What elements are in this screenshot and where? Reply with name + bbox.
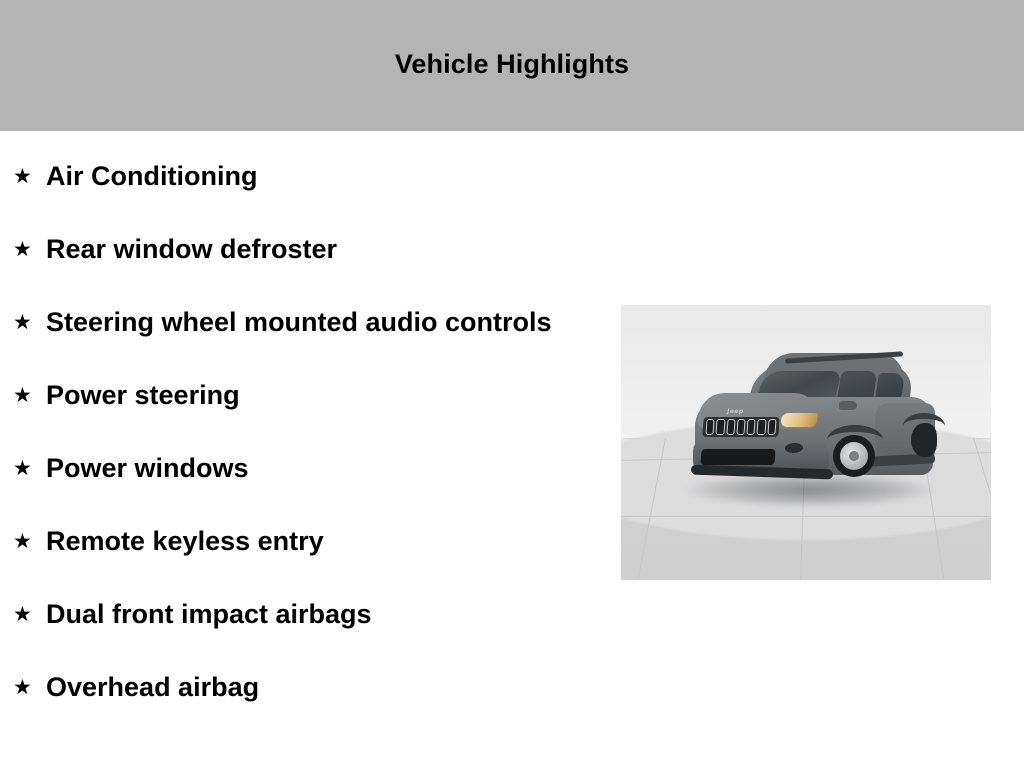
lower-grille	[700, 449, 775, 465]
list-item: ★ Overhead airbag	[0, 669, 600, 706]
list-item-label: Power windows	[46, 450, 556, 487]
grille-slot	[705, 419, 714, 435]
jeep-badge: Jeep	[727, 409, 750, 415]
front-wheel	[833, 435, 875, 477]
jeep-compass-suv: Jeep	[689, 351, 937, 511]
list-item: ★ Steering wheel mounted audio controls	[0, 304, 600, 341]
list-item: ★ Power windows	[0, 450, 600, 487]
list-item: ★ Power steering	[0, 377, 600, 414]
side-mirror	[839, 401, 857, 410]
headlight	[780, 413, 819, 427]
seven-slot-grille-icon	[702, 417, 779, 437]
grille-slot	[747, 419, 756, 435]
floor-seam	[621, 516, 991, 517]
grille-slot	[757, 419, 766, 435]
star-bullet-icon: ★	[13, 596, 32, 633]
list-item-label: Rear window defroster	[46, 231, 556, 268]
vehicle-photo-backdrop: Jeep	[621, 305, 991, 580]
star-bullet-icon: ★	[13, 450, 32, 487]
list-item-label: Steering wheel mounted audio controls	[46, 304, 556, 341]
star-bullet-icon: ★	[13, 231, 32, 268]
grille-slot	[767, 419, 776, 435]
rear-wheel	[911, 423, 937, 457]
grille-slot	[726, 419, 735, 435]
star-bullet-icon: ★	[13, 304, 32, 341]
star-bullet-icon: ★	[13, 158, 32, 195]
vehicle-highlights-list: ★ Air Conditioning ★ Rear window defrost…	[0, 131, 600, 742]
grille-slot	[716, 419, 725, 435]
list-item-label: Overhead airbag	[46, 669, 556, 706]
star-bullet-icon: ★	[13, 377, 32, 414]
list-item: ★ Air Conditioning	[0, 158, 600, 195]
list-item-label: Remote keyless entry	[46, 523, 556, 560]
star-bullet-icon: ★	[13, 523, 32, 560]
page-title: Vehicle Highlights	[0, 48, 1024, 80]
list-item: ★ Rear window defroster	[0, 231, 600, 268]
vehicle-photo: Jeep	[621, 305, 991, 580]
grille-slot	[736, 419, 745, 435]
header-banner: Vehicle Highlights	[0, 0, 1024, 131]
list-item-label: Power steering	[46, 377, 556, 414]
list-item-label: Dual front impact airbags	[46, 596, 556, 633]
list-item: ★ Dual front impact airbags	[0, 596, 600, 633]
star-bullet-icon: ★	[13, 669, 32, 706]
list-item-label: Air Conditioning	[46, 158, 556, 195]
list-item: ★ Remote keyless entry	[0, 523, 600, 560]
wheel-hub	[849, 451, 859, 461]
